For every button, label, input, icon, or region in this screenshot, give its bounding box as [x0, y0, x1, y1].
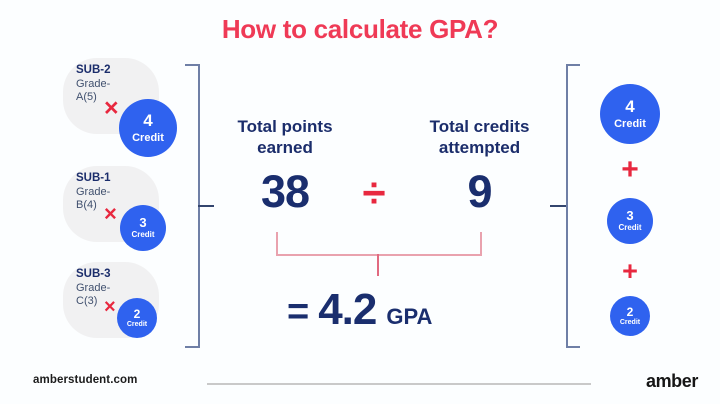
subject-grade-line1-1: Grade- — [76, 78, 146, 91]
credit-value-right-1: 4 — [625, 98, 634, 115]
denominator-label-line2: attempted — [439, 138, 520, 157]
credit-value-left-1: 4 — [143, 112, 152, 129]
result-bracket-left-arm — [276, 232, 278, 256]
page-title: How to calculate GPA? — [0, 14, 720, 45]
credit-value-right-3: 2 — [627, 306, 634, 318]
denominator-value: 9 — [392, 169, 567, 214]
credit-label-right-1: Credit — [614, 118, 646, 130]
result-line: = 4.2 GPA — [287, 288, 432, 332]
multiply-icon-1: × — [104, 96, 119, 121]
denominator-label-line1: Total credits — [430, 117, 530, 136]
credit-circle-left-1: 4 Credit — [119, 99, 177, 157]
subject-grade-line1-2: Grade- — [76, 186, 146, 199]
credit-circle-left-3: 2 Credit — [117, 298, 157, 338]
right-bracket-spine — [566, 64, 568, 348]
multiply-icon-2: × — [104, 203, 117, 225]
credit-value-left-2: 3 — [139, 216, 146, 229]
credit-circle-right-2: 3 Credit — [607, 198, 653, 244]
numerator-label: Total points earned — [205, 116, 365, 159]
credit-value-left-3: 2 — [134, 308, 141, 320]
credit-label-left-2: Credit — [131, 231, 154, 240]
denominator-label: Total credits attempted — [392, 116, 567, 159]
right-bracket-arm-top — [566, 64, 580, 66]
right-bracket — [550, 64, 584, 348]
plus-icon-2: + — [600, 258, 660, 285]
result-bracket-right-arm — [480, 232, 482, 256]
right-bracket-stem — [550, 205, 566, 207]
result-bracket — [276, 232, 482, 278]
result-bracket-stem — [377, 254, 379, 276]
result-equals-sign: = — [287, 293, 309, 331]
result-bracket-horizontal — [276, 254, 482, 256]
multiply-icon-3: × — [104, 297, 116, 317]
footer-website[interactable]: amberstudent.com — [33, 374, 137, 386]
brand-logo: amber — [646, 371, 698, 392]
numerator-label-line1: Total points — [237, 117, 332, 136]
credit-circle-left-2: 3 Credit — [120, 205, 166, 251]
left-bracket-arm-top — [185, 64, 199, 66]
result-value: 4.2 — [318, 288, 376, 332]
credit-label-left-3: Credit — [127, 321, 147, 329]
credit-label-left-1: Credit — [132, 132, 164, 144]
subject-name-2: SUB-1 — [76, 172, 146, 186]
left-bracket-arm-bottom — [185, 346, 199, 348]
credit-circle-right-3: 2 Credit — [610, 296, 650, 336]
footer-divider — [207, 383, 591, 385]
plus-icon-1: + — [600, 155, 660, 185]
credit-label-right-2: Credit — [618, 224, 641, 233]
subject-grade-line1-3: Grade- — [76, 282, 146, 295]
numerator-value: 38 — [205, 169, 365, 214]
subject-name-3: SUB-3 — [76, 268, 146, 282]
right-bracket-arm-bottom — [566, 346, 580, 348]
numerator-label-line2: earned — [257, 138, 313, 157]
credit-circle-right-1: 4 Credit — [600, 84, 660, 144]
result-unit-label: GPA — [386, 306, 432, 328]
credit-label-right-3: Credit — [620, 319, 640, 327]
subject-name-1: SUB-2 — [76, 64, 146, 78]
infographic-canvas: How to calculate GPA? SUB-2 Grade- A(5) … — [0, 0, 720, 404]
credit-value-right-2: 3 — [626, 209, 633, 222]
